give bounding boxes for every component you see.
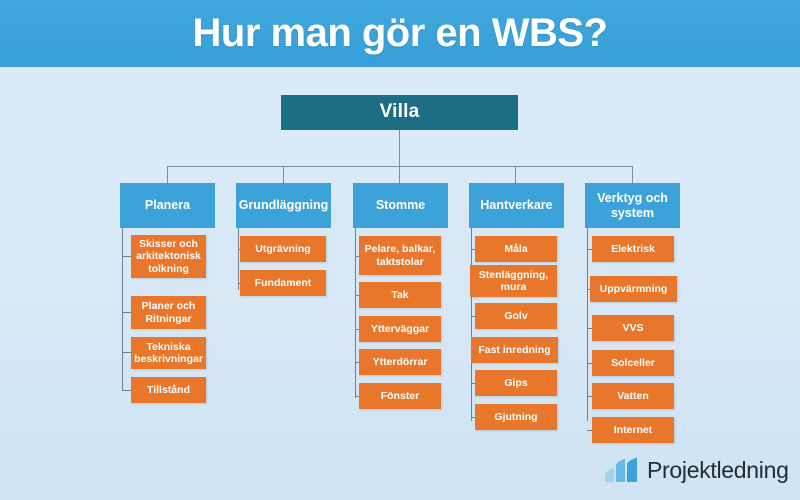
node-branch-label: Stomme <box>376 198 425 213</box>
node-task[interactable]: Fönster <box>359 383 441 409</box>
node-task-label: Fundament <box>255 277 312 289</box>
connector-spine-grundlaggning <box>238 228 239 290</box>
node-task[interactable]: Stenläggning, mura <box>470 265 557 297</box>
node-task-label: Tak <box>391 289 408 301</box>
node-task-label: Uppvärmning <box>600 283 668 295</box>
node-branch-label: Planera <box>145 198 190 213</box>
node-task-label: Utgrävning <box>255 243 310 255</box>
node-task-label: Pelare, balkar, taktstolar <box>362 243 438 268</box>
node-task[interactable]: Pelare, balkar, taktstolar <box>359 236 441 275</box>
node-task-label: Tekniska beskrivningar <box>134 341 203 366</box>
header-band: Hur man gör en WBS? <box>0 0 800 67</box>
node-branch-planera[interactable]: Planera <box>120 183 215 228</box>
connector-drop-planera <box>167 166 168 183</box>
node-task-label: Ytterdörrar <box>373 356 428 368</box>
node-task[interactable]: VVS <box>592 315 674 341</box>
node-task-label: Vatten <box>617 390 649 402</box>
connector-drop-verktyg <box>632 166 633 183</box>
node-task[interactable]: Vatten <box>592 383 674 409</box>
node-task[interactable]: Elektrisk <box>592 236 674 262</box>
node-task[interactable]: Gjutning <box>475 404 557 430</box>
page-title: Hur man gör en WBS? <box>0 8 800 58</box>
connector-stub <box>122 390 131 391</box>
node-task[interactable]: Skisser och arkitektonisk tolkning <box>131 235 206 278</box>
node-task-label: Måla <box>504 243 527 255</box>
brand-logo[interactable]: Projektledning <box>604 457 789 483</box>
node-task[interactable]: Planer och Ritningar <box>131 296 206 329</box>
node-task[interactable]: Ytterväggar <box>359 316 441 342</box>
node-branch-label: Hantverkare <box>480 198 552 213</box>
node-task-label: VVS <box>622 322 643 334</box>
node-task-label: Stenläggning, mura <box>473 269 554 294</box>
node-task-label: Gips <box>504 377 527 389</box>
node-task[interactable]: Fundament <box>240 270 326 296</box>
node-task[interactable]: Fast inredning <box>471 337 558 363</box>
node-branch-grundlaggning[interactable]: Grundläggning <box>236 183 331 228</box>
node-task[interactable]: Tekniska beskrivningar <box>131 337 206 369</box>
node-task-label: Elektrisk <box>611 243 655 255</box>
node-task[interactable]: Ytterdörrar <box>359 349 441 375</box>
connector-drop-stomme <box>399 166 400 183</box>
node-root-villa[interactable]: Villa <box>281 95 518 130</box>
node-task-label: Tillstånd <box>147 384 190 396</box>
wbs-diagram-page: Hur man gör en WBS? Villa Planera Skisse… <box>0 0 800 500</box>
connector-root-stem <box>399 130 400 166</box>
node-task[interactable]: Solceller <box>592 350 674 376</box>
node-branch-stomme[interactable]: Stomme <box>353 183 448 228</box>
connector-spine-stomme <box>355 228 356 398</box>
connector-stub <box>122 352 131 353</box>
node-root-label: Villa <box>380 101 420 123</box>
node-task[interactable]: Gips <box>475 370 557 396</box>
connector-spine-planera <box>122 228 123 391</box>
logo-text: Projektledning <box>647 457 789 483</box>
node-task[interactable]: Internet <box>592 417 674 443</box>
node-task[interactable]: Golv <box>475 303 557 329</box>
connector-spine-verktyg <box>587 228 588 421</box>
node-task-label: Internet <box>614 424 653 436</box>
connector-drop-grundlaggning <box>283 166 284 183</box>
node-task[interactable]: Tillstånd <box>131 377 206 403</box>
node-branch-label: Verktyg och system <box>589 191 676 221</box>
node-task-label: Fönster <box>381 390 420 402</box>
node-task[interactable]: Måla <box>475 236 557 262</box>
node-branch-hantverkare[interactable]: Hantverkare <box>469 183 564 228</box>
node-task-label: Solceller <box>611 357 655 369</box>
node-task-label: Fast inredning <box>478 344 550 356</box>
node-task[interactable]: Utgrävning <box>240 236 326 262</box>
node-task-label: Planer och Ritningar <box>134 300 203 325</box>
node-task-label: Ytterväggar <box>371 323 429 335</box>
connector-spine-hantverkare <box>471 228 472 421</box>
node-branch-label: Grundläggning <box>239 198 329 213</box>
connector-drop-hantverkare <box>515 166 516 183</box>
node-task-label: Skisser och arkitektonisk tolkning <box>134 238 203 275</box>
connector-stub <box>122 256 131 257</box>
node-task[interactable]: Tak <box>359 282 441 308</box>
bar-chart-icon <box>604 457 640 483</box>
node-task-label: Gjutning <box>494 411 537 423</box>
connector-stub <box>122 312 131 313</box>
node-task-label: Golv <box>504 310 527 322</box>
node-task[interactable]: Uppvärmning <box>590 276 677 302</box>
node-branch-verktyg-och-system[interactable]: Verktyg och system <box>585 183 680 228</box>
